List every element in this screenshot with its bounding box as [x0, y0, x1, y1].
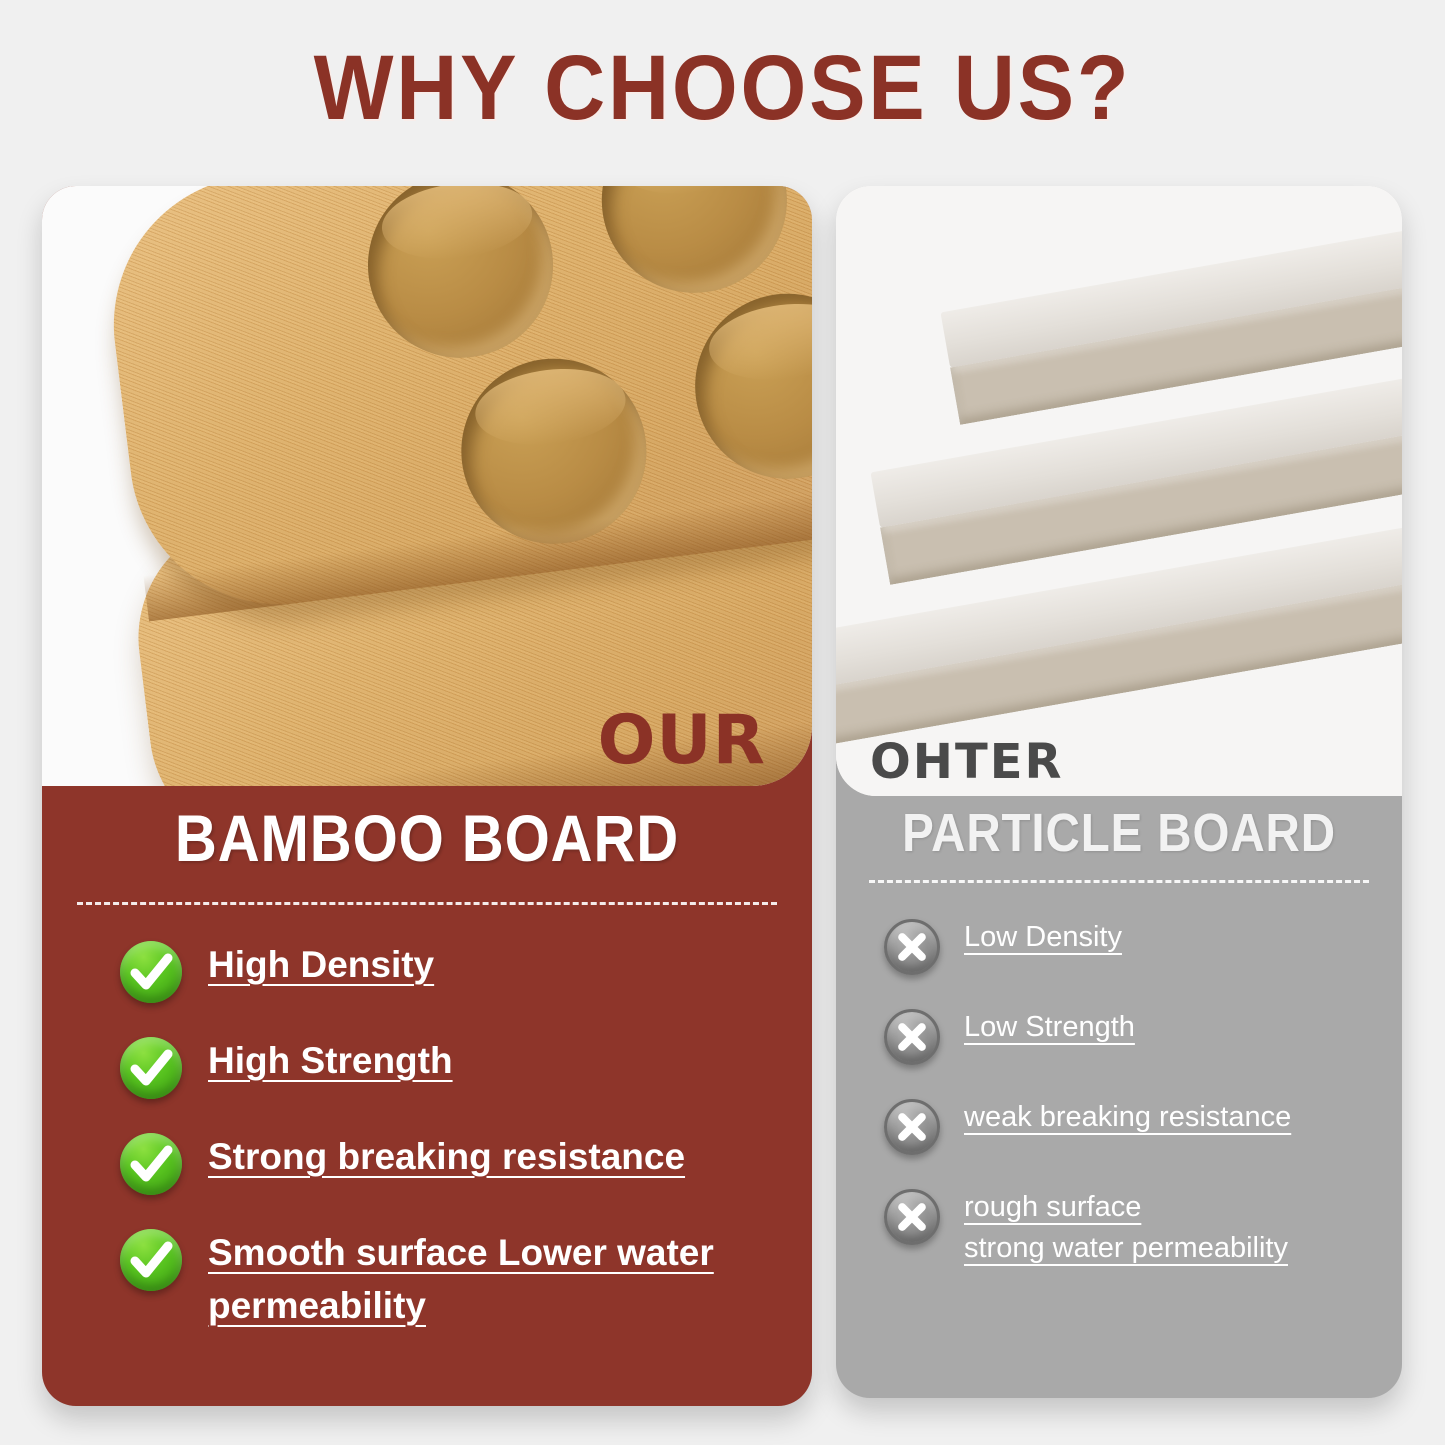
feature-text: weak breaking resistance [964, 1097, 1291, 1138]
feature-text: rough surface strong water permeability [964, 1187, 1288, 1269]
list-item[interactable]: weak breaking resistance [836, 1097, 1402, 1155]
ours-heading: BAMBOO BOARD [88, 786, 766, 876]
feature-line: Smooth surface Lower water [208, 1227, 714, 1280]
bamboo-illustration [42, 186, 812, 786]
bamboo-board-photo: OUR [42, 186, 812, 786]
check-icon [120, 1133, 182, 1195]
bamboo-hole [685, 283, 812, 489]
bamboo-hole [451, 348, 657, 554]
feature-text: Strong breaking resistance [208, 1131, 685, 1184]
list-item[interactable]: Strong breaking resistance [42, 1131, 812, 1195]
feature-line: Low Strength [964, 1007, 1135, 1048]
feature-text: Smooth surface Lower water permeability [208, 1227, 714, 1332]
comparison-card-ours: OUR BAMBOO BOARD High Density High Stren… [42, 186, 812, 1406]
feature-line: permeability [208, 1280, 714, 1333]
other-feature-list: Low Density Low Strength weak breaking r… [836, 917, 1402, 1269]
list-item[interactable]: rough surface strong water permeability [836, 1187, 1402, 1269]
feature-line: Strong breaking resistance [208, 1131, 685, 1184]
x-icon [884, 1189, 940, 1245]
list-item[interactable]: High Density [42, 939, 812, 1003]
list-item[interactable]: Low Density [836, 917, 1402, 975]
ours-panel-body: BAMBOO BOARD High Density High Strength [42, 786, 812, 1406]
particle-board-photo: OHTER [836, 186, 1402, 796]
ours-feature-list: High Density High Strength Strong breaki… [42, 939, 812, 1332]
bamboo-hole [357, 186, 563, 368]
page-title: WHY CHOOSE US? [58, 36, 1387, 141]
feature-line: rough surface [964, 1187, 1288, 1228]
feature-line: High Strength [208, 1035, 453, 1088]
list-item[interactable]: Low Strength [836, 1007, 1402, 1065]
list-item[interactable]: Smooth surface Lower water permeability [42, 1227, 812, 1332]
comparison-card-other: OHTER PARTICLE BOARD Low Density Low Str… [836, 186, 1402, 1398]
ours-divider [77, 902, 777, 905]
x-icon [884, 1099, 940, 1155]
check-icon [120, 941, 182, 1003]
feature-line: weak breaking resistance [964, 1097, 1291, 1138]
feature-text: Low Density [964, 917, 1122, 958]
check-icon [120, 1037, 182, 1099]
ours-corner-label: OUR [598, 701, 766, 780]
other-corner-label: OHTER [870, 734, 1063, 790]
other-panel-body: PARTICLE BOARD Low Density Low Strength [836, 796, 1402, 1398]
feature-line: High Density [208, 939, 434, 992]
list-item[interactable]: High Strength [42, 1035, 812, 1099]
bamboo-hole [591, 186, 797, 303]
feature-text: Low Strength [964, 1007, 1135, 1048]
other-heading: PARTICLE BOARD [870, 796, 1368, 864]
feature-text: High Strength [208, 1035, 453, 1088]
other-divider [869, 880, 1369, 883]
feature-line: Low Density [964, 917, 1122, 958]
x-icon [884, 919, 940, 975]
feature-line: strong water permeability [964, 1228, 1288, 1269]
x-icon [884, 1009, 940, 1065]
check-icon [120, 1229, 182, 1291]
particle-board-illustration [836, 186, 1402, 796]
feature-text: High Density [208, 939, 434, 992]
